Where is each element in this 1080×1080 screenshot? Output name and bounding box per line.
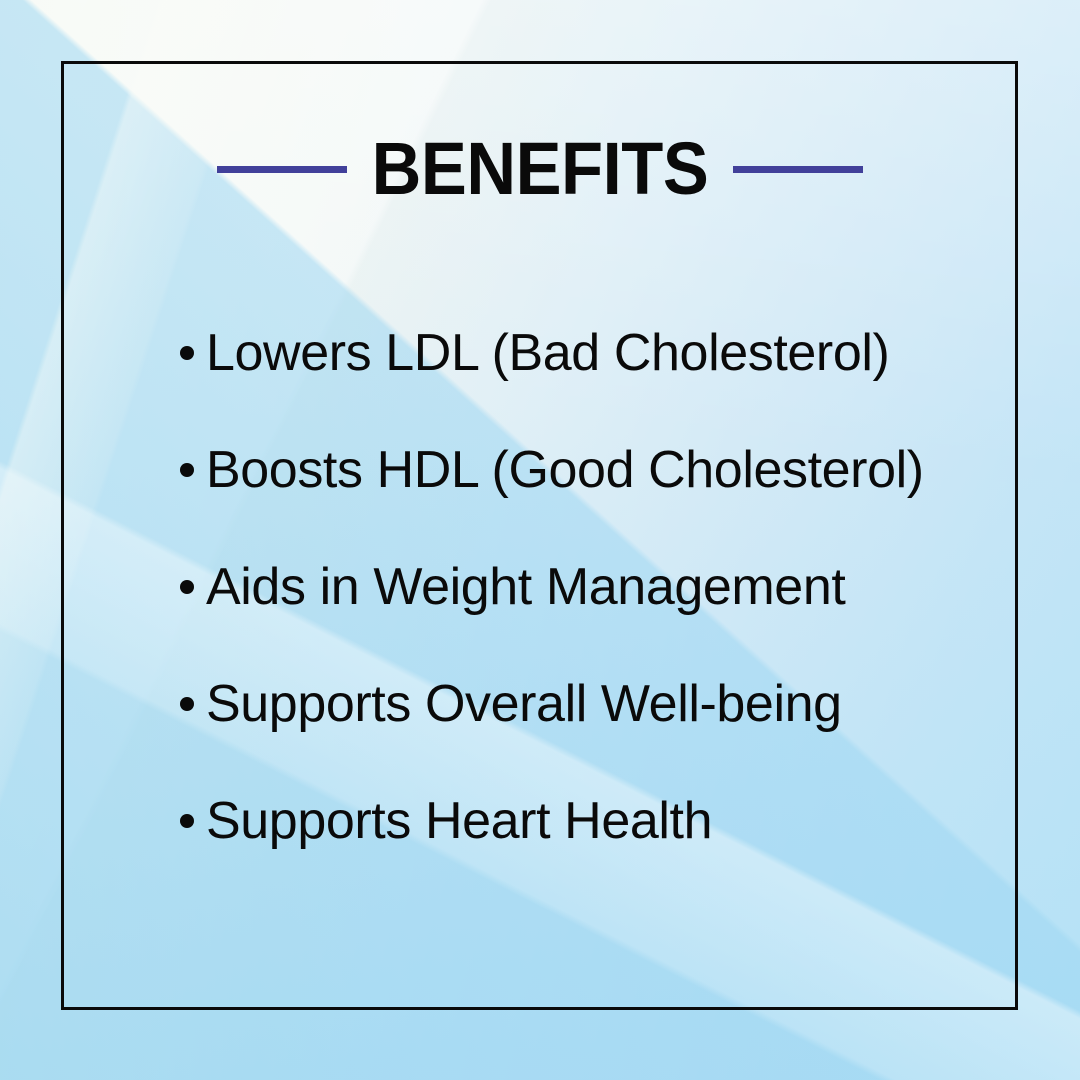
benefit-label: Supports Overall Well-being xyxy=(206,678,842,730)
benefit-label: Supports Heart Health xyxy=(206,795,712,847)
bullet-icon xyxy=(180,463,194,477)
list-item: Boosts HDL (Good Cholesterol) xyxy=(180,435,1000,505)
heading-rule-right xyxy=(733,166,863,173)
list-item: Aids in Weight Management xyxy=(180,552,1000,622)
benefits-list: Lowers LDL (Bad Cholesterol) Boosts HDL … xyxy=(180,318,1000,856)
benefit-label: Boosts HDL (Good Cholesterol) xyxy=(206,444,924,496)
page-title: BENEFITS xyxy=(368,132,712,206)
bullet-icon xyxy=(180,580,194,594)
bullet-icon xyxy=(180,697,194,711)
heading: BENEFITS xyxy=(0,133,1080,205)
list-item: Lowers LDL (Bad Cholesterol) xyxy=(180,318,1000,388)
heading-rule-left xyxy=(217,166,347,173)
benefits-card: BENEFITS Lowers LDL (Bad Cholesterol) Bo… xyxy=(0,0,1080,1080)
benefit-label: Lowers LDL (Bad Cholesterol) xyxy=(206,327,889,379)
bullet-icon xyxy=(180,814,194,828)
benefit-label: Aids in Weight Management xyxy=(206,561,845,613)
bullet-icon xyxy=(180,346,194,360)
list-item: Supports Overall Well-being xyxy=(180,669,1000,739)
list-item: Supports Heart Health xyxy=(180,786,1000,856)
